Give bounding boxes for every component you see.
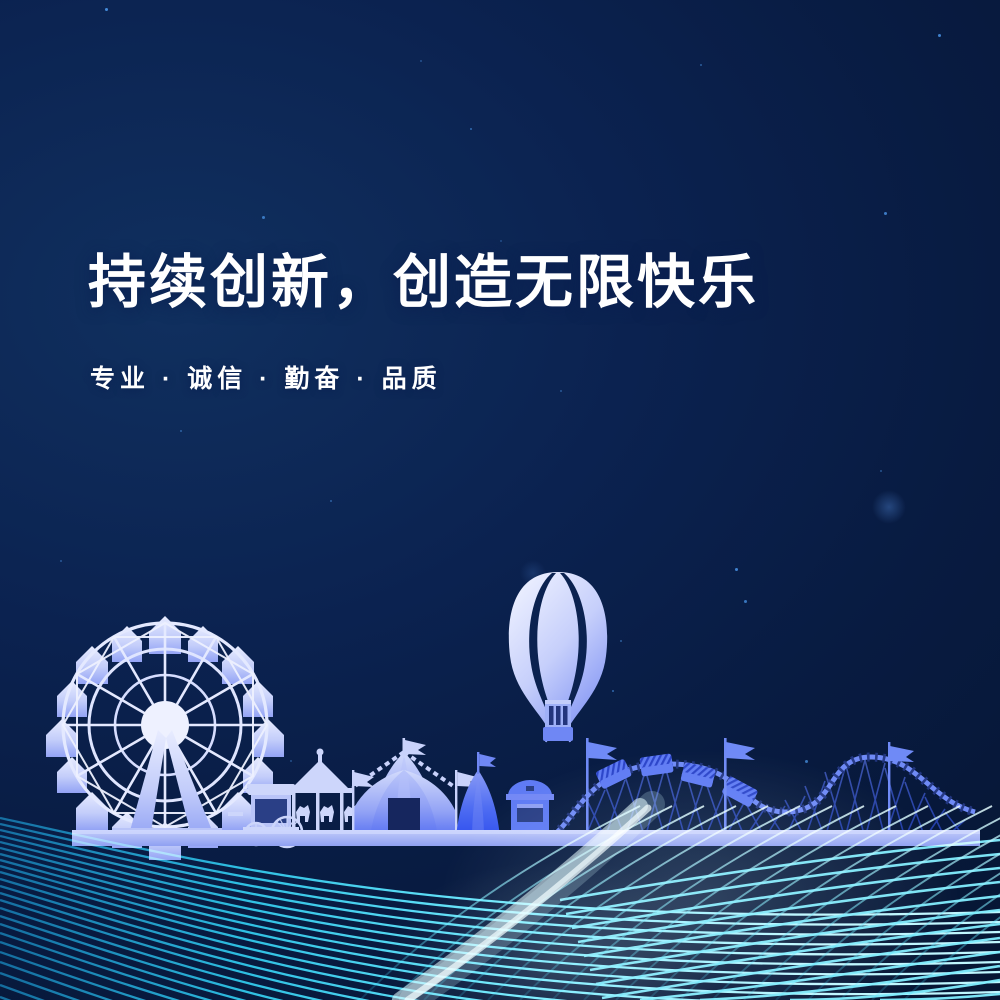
banner-canvas: 持续创新，创造无限快乐 专业 · 诚信 · 勤奋 · 品质	[0, 0, 1000, 1000]
wave-mesh-decoration	[0, 0, 1000, 1000]
